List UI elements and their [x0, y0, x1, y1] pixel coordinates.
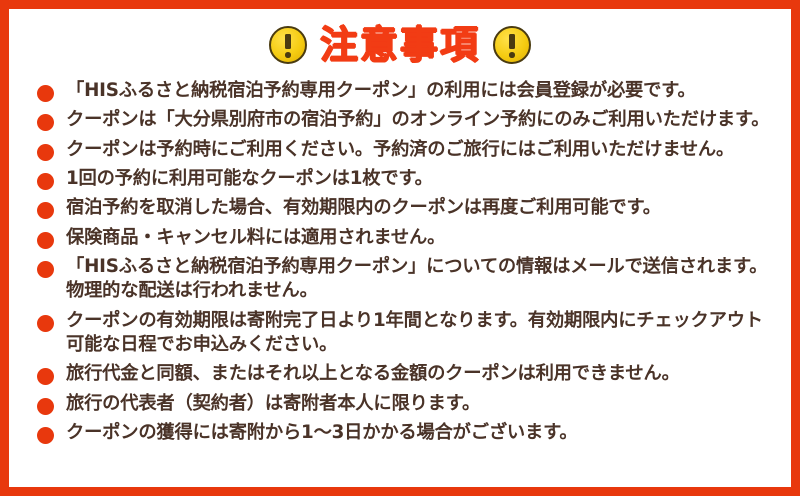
list-item: 「HISふるさと納税宿泊予約専用クーポン」についての情報はメールで送信されます。…	[37, 255, 771, 304]
notice-card: 注意事項 「HISふるさと納税宿泊予約専用クーポン」の利用には会員登録が必要です…	[0, 0, 800, 496]
list-item-text: 旅行の代表者（契約者）は寄附者本人に限ります。	[66, 392, 771, 416]
exclamation-dot	[285, 52, 291, 58]
bullet-icon	[37, 398, 54, 415]
list-item: 1回の予約に利用可能なクーポンは1枚です。	[37, 167, 771, 191]
bullet-icon	[37, 427, 54, 444]
bullet-icon	[37, 202, 54, 219]
exclamation-stem	[509, 34, 515, 49]
bullet-icon	[37, 85, 54, 102]
bullet-icon	[37, 368, 54, 385]
list-item: クーポンは「大分県別府市の宿泊予約」のオンライン予約にのみご利用いただけます。	[37, 108, 771, 132]
list-item-text: 旅行代金と同額、またはそれ以上となる金額のクーポンは利用できません。	[66, 362, 771, 386]
exclamation-stem	[285, 34, 291, 49]
list-item: 旅行の代表者（契約者）は寄附者本人に限ります。	[37, 392, 771, 416]
list-item: 旅行代金と同額、またはそれ以上となる金額のクーポンは利用できません。	[37, 362, 771, 386]
bullet-icon	[37, 114, 54, 131]
list-item-text: クーポンの有効期限は寄附完了日より1年間となります。有効期限内にチェックアウト可…	[66, 309, 771, 358]
notice-list: 「HISふるさと納税宿泊予約専用クーポン」の利用には会員登録が必要です。 クーポ…	[23, 79, 777, 445]
list-item: 「HISふるさと納税宿泊予約専用クーポン」の利用には会員登録が必要です。	[37, 79, 771, 103]
list-item-text: 宿泊予約を取消した場合、有効期限内のクーポンは再度ご利用可能です。	[66, 196, 771, 220]
list-item-text: クーポンは「大分県別府市の宿泊予約」のオンライン予約にのみご利用いただけます。	[66, 108, 771, 132]
list-item-text: 保険商品・キャンセル料には適用されません。	[66, 226, 771, 250]
page-title: 注意事項	[320, 26, 480, 64]
list-item-text: クーポンの獲得には寄附から1〜3日かかる場合がございます。	[66, 421, 771, 445]
bullet-icon	[37, 232, 54, 249]
list-item: クーポンの獲得には寄附から1〜3日かかる場合がございます。	[37, 421, 771, 445]
exclamation-circle-icon-left	[269, 26, 307, 64]
list-item: クーポンは予約時にご利用ください。予約済のご旅行にはご利用いただけません。	[37, 138, 771, 162]
list-item-text: 1回の予約に利用可能なクーポンは1枚です。	[66, 167, 771, 191]
list-item-text: 「HISふるさと納税宿泊予約専用クーポン」の利用には会員登録が必要です。	[66, 79, 771, 103]
bullet-icon	[37, 315, 54, 332]
exclamation-dot	[509, 52, 515, 58]
list-item: クーポンの有効期限は寄附完了日より1年間となります。有効期限内にチェックアウト可…	[37, 309, 771, 358]
list-item: 保険商品・キャンセル料には適用されません。	[37, 226, 771, 250]
bullet-icon	[37, 261, 54, 278]
bullet-icon	[37, 173, 54, 190]
exclamation-circle-icon-right	[493, 26, 531, 64]
list-item-text: 「HISふるさと納税宿泊予約専用クーポン」についての情報はメールで送信されます。…	[66, 255, 771, 304]
notice-header: 注意事項	[23, 17, 777, 73]
list-item-text: クーポンは予約時にご利用ください。予約済のご旅行にはご利用いただけません。	[66, 138, 771, 162]
list-item: 宿泊予約を取消した場合、有効期限内のクーポンは再度ご利用可能です。	[37, 196, 771, 220]
bullet-icon	[37, 144, 54, 161]
